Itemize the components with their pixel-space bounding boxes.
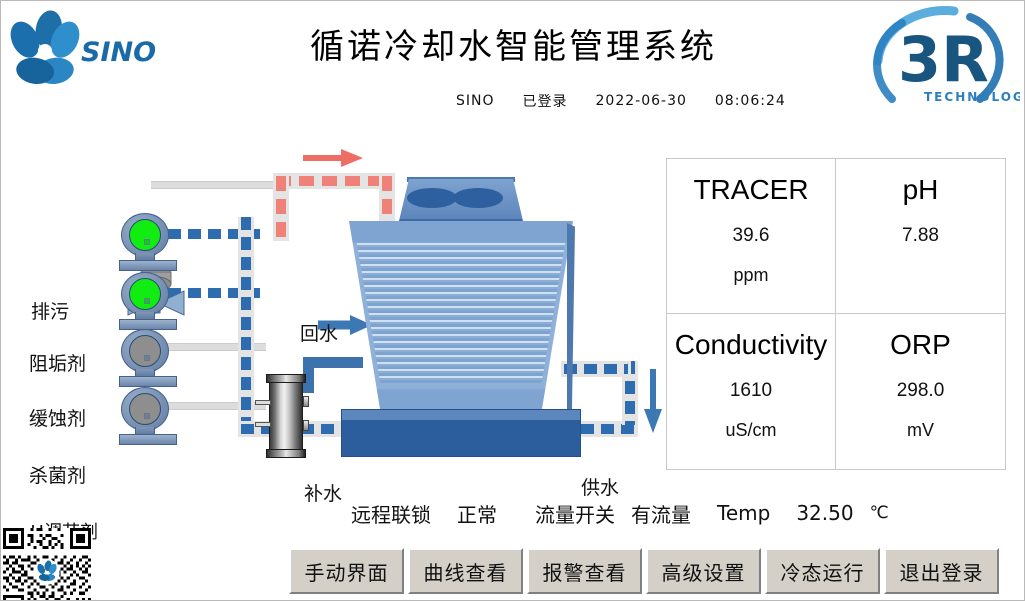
label-blowdown: 排污 <box>31 297 69 324</box>
riser-pipe <box>241 217 251 437</box>
vessel-port-left-lower <box>255 422 271 427</box>
label-corrosion-inhibitor: 缓蚀剂 <box>29 404 86 431</box>
blowdown-pipe <box>151 181 281 189</box>
cooling-tower[interactable] <box>341 161 601 461</box>
pump-center-dot <box>144 355 150 361</box>
supply-flow-arrow-icon <box>641 367 665 435</box>
tracer-title: TRACER <box>693 173 808 207</box>
tower-louvers <box>349 243 573 383</box>
pump-center-dot <box>144 413 150 419</box>
ph-value: 7.88 <box>902 225 939 247</box>
advanced-settings-button[interactable]: 高级设置 <box>646 548 761 594</box>
measurement-panel: TRACER 39.6 ppm pH 7.88 Conductivity 161… <box>666 158 1006 470</box>
hmi-screen: SINO 循诺冷却水智能管理系统 SINO 已登录 2022-06-30 08:… <box>0 0 1025 601</box>
measurement-cell-orp: ORP 298.0 mV <box>836 314 1005 469</box>
logout-button[interactable]: 退出登录 <box>884 548 999 594</box>
qr-code[interactable] <box>3 528 91 601</box>
filter-vessel-icon[interactable] <box>263 374 309 462</box>
label-return-water: 回水 <box>300 319 338 346</box>
label-makeup-water: 补水 <box>304 479 342 506</box>
header-status-bar: SINO 已登录 2022-06-30 08:06:24 <box>456 91 786 111</box>
curve-view-button[interactable]: 曲线查看 <box>408 548 523 594</box>
return-left-pipe <box>276 176 286 238</box>
pump-base <box>119 376 177 387</box>
pump-center-dot <box>144 298 150 304</box>
current-date: 2022-06-30 <box>596 93 687 109</box>
header: SINO 循诺冷却水智能管理系统 SINO 已登录 2022-06-30 08:… <box>1 1 1025 121</box>
label-scale-inhibitor: 阻垢剂 <box>29 349 86 376</box>
tower-side-shadow <box>567 223 575 409</box>
pump-status-indicator <box>129 335 161 367</box>
measurement-cell-tracer: TRACER 39.6 ppm <box>667 159 836 314</box>
alarm-view-button[interactable]: 报警查看 <box>527 548 642 594</box>
pump-biocide[interactable] <box>121 329 177 383</box>
pump-status-indicator <box>129 219 161 251</box>
ph-title: pH <box>903 173 939 207</box>
login-status: 已登录 <box>523 91 568 111</box>
tracer-unit: ppm <box>733 265 768 286</box>
qr-code-icon <box>3 528 91 601</box>
orp-value: 298.0 <box>897 380 945 402</box>
remote-interlock-label: 远程联锁 <box>351 499 431 528</box>
conductivity-unit: uS/cm <box>725 420 776 441</box>
fan-blade-left-icon <box>407 188 457 208</box>
current-user: SINO <box>456 93 495 109</box>
conductivity-value: 1610 <box>730 380 772 402</box>
temp-unit: ℃ <box>870 503 889 523</box>
pump-ph-adjuster[interactable] <box>121 387 177 441</box>
conductivity-title: Conductivity <box>675 328 828 362</box>
fan-blade-right-icon <box>453 188 503 208</box>
vessel-flange-lower <box>303 420 309 431</box>
pump-corrosion-inhibitor[interactable] <box>121 272 177 326</box>
cold-start-button[interactable]: 冷态运行 <box>765 548 880 594</box>
remote-interlock-value: 正常 <box>457 499 497 528</box>
button-bar: 手动界面 曲线查看 报警查看 高级设置 冷态运行 退出登录 <box>289 548 999 594</box>
pump-scale-inhibitor[interactable] <box>121 213 177 267</box>
label-biocide: 杀菌剂 <box>29 461 86 488</box>
tracer-value: 39.6 <box>733 225 770 247</box>
vessel-flange-upper <box>303 396 309 407</box>
vessel-port-left-upper <box>255 400 271 405</box>
status-row: 远程联锁 正常 流量开关 有流量 Temp 32.50 ℃ <box>351 496 1011 530</box>
pump-center-dot <box>144 239 150 245</box>
vessel-bottom-cap <box>266 449 306 458</box>
pump-status-indicator <box>129 278 161 310</box>
orp-unit: mV <box>907 420 934 441</box>
svg-text:3R: 3R <box>898 23 989 96</box>
r3-logo-icon: 3R TECHNOLOGY <box>862 3 1020 111</box>
measurement-cell-ph: pH 7.88 <box>836 159 1005 314</box>
tower-basin <box>341 409 581 457</box>
flow-switch-value: 有流量 <box>631 499 691 528</box>
measurement-cell-conductivity: Conductivity 1610 uS/cm <box>667 314 836 469</box>
vessel-shell <box>269 382 303 450</box>
pump-status-indicator <box>129 393 161 425</box>
r3-logo-subtext: TECHNOLOGY <box>924 90 1020 104</box>
manual-interface-button[interactable]: 手动界面 <box>289 548 404 594</box>
process-diagram: 排污 阻垢剂 缓蚀剂 杀菌剂 pH调节剂 回水 补水 供水 <box>1 121 661 481</box>
temp-label: Temp <box>717 501 770 525</box>
r3-technology-logo: 3R TECHNOLOGY <box>862 3 1020 111</box>
flow-switch-label: 流量开关 <box>535 499 615 528</box>
temp-value: 32.50 <box>796 501 853 525</box>
pump-base <box>119 260 177 271</box>
pump-base <box>119 434 177 445</box>
current-time: 08:06:24 <box>715 93 786 109</box>
orp-title: ORP <box>890 328 951 362</box>
